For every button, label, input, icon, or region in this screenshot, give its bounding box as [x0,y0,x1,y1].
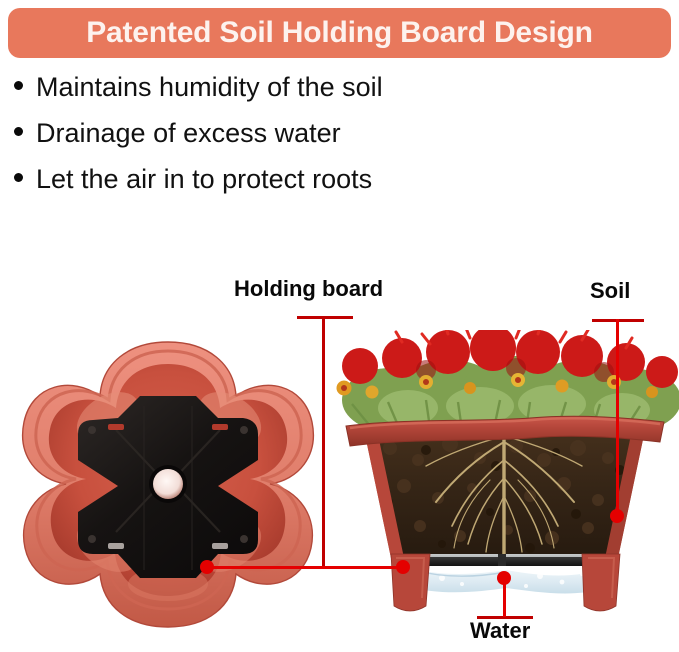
flower-bed [337,330,679,432]
callout-dot-water [497,571,511,585]
list-item: Maintains humidity of the soil [14,74,654,120]
bullet-icon [14,81,23,90]
pot-top-view-image [12,334,324,634]
callout-label-soil: Soil [590,280,630,302]
soil-region [360,430,650,560]
page-title: Patented Soil Holding Board Design [86,18,593,48]
bullet-icon [14,127,23,136]
list-item: Let the air in to protect roots [14,166,654,212]
bullet-icon [14,173,23,182]
callout-dot-soil [610,509,624,523]
product-diagram: Holding board Soil Water [0,250,679,652]
leader-line-holding-board-tbar [297,316,353,319]
feature-text: Maintains humidity of the soil [36,74,383,101]
header-banner: Patented Soil Holding Board Design [8,8,671,58]
callout-dot-holding-board-right [396,560,410,574]
leader-line-holding-board-vertical [322,316,325,567]
leader-line-soil-vertical [616,319,619,516]
list-item: Drainage of excess water [14,120,654,166]
callout-label-water: Water [470,620,530,642]
callout-dot-holding-board-left [200,560,214,574]
leader-line-holding-board-horizontal [207,566,404,569]
feature-text: Let the air in to protect roots [36,166,372,193]
callout-label-holding-board: Holding board [234,278,383,300]
feature-text: Drainage of excess water [36,120,341,147]
feature-list: Maintains humidity of the soil Drainage … [14,74,654,212]
